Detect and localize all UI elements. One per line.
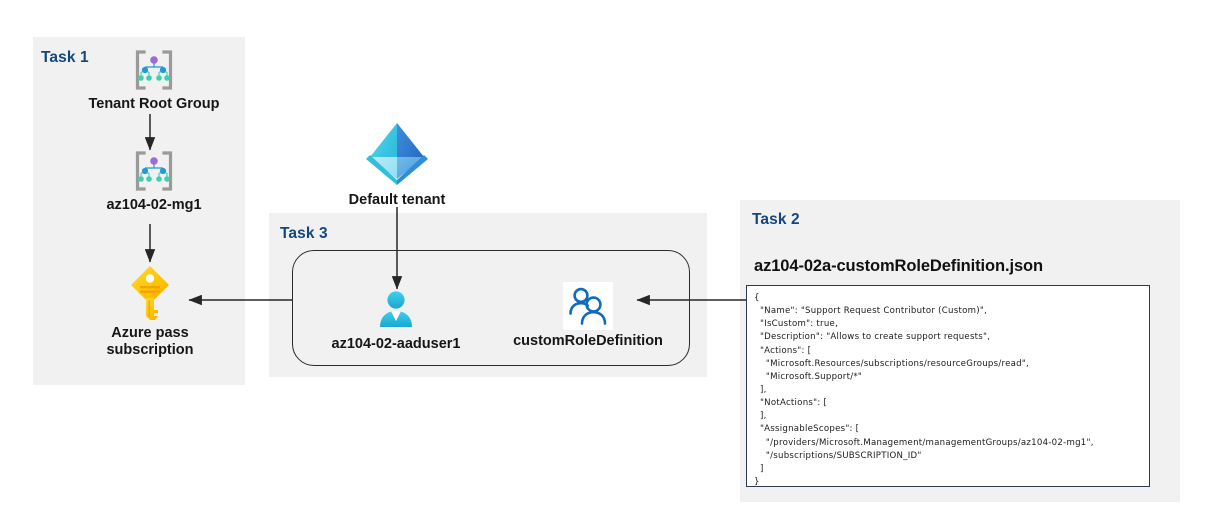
management-group-icon <box>131 47 177 93</box>
node-label: Azure pass subscription <box>106 325 193 359</box>
node-label: Tenant Root Group <box>88 96 219 113</box>
azure-ad-tenant-icon <box>357 117 437 189</box>
user-icon <box>373 287 419 333</box>
diagram-canvas: Task 1 Task 3 Task 2 Tenant Root Group <box>0 0 1212 522</box>
json-filename-label: az104-02a-customRoleDefinition.json <box>754 257 1043 276</box>
task-3-label: Task 3 <box>280 225 328 243</box>
node-label: Default tenant <box>349 192 446 209</box>
task-2-label: Task 2 <box>752 211 800 229</box>
node-aad-user: az104-02-aaduser1 <box>310 287 482 353</box>
management-group-icon <box>131 148 177 194</box>
json-code-box: { "Name": "Support Request Contributor (… <box>746 285 1150 487</box>
node-azure-pass-subscription: Azure pass subscription <box>80 262 220 359</box>
node-default-tenant: Default tenant <box>330 117 464 209</box>
node-management-group: az104-02-mg1 <box>90 148 218 214</box>
key-icon <box>125 262 175 322</box>
node-custom-role-definition: customRoleDefinition <box>498 282 678 350</box>
node-label: az104-02-mg1 <box>106 197 201 214</box>
node-label: az104-02-aaduser1 <box>332 336 461 353</box>
json-code-content: { "Name": "Support Request Contributor (… <box>747 286 1149 487</box>
node-tenant-root-group: Tenant Root Group <box>68 47 240 113</box>
role-definition-icon <box>563 282 613 330</box>
node-label: customRoleDefinition <box>513 333 663 350</box>
